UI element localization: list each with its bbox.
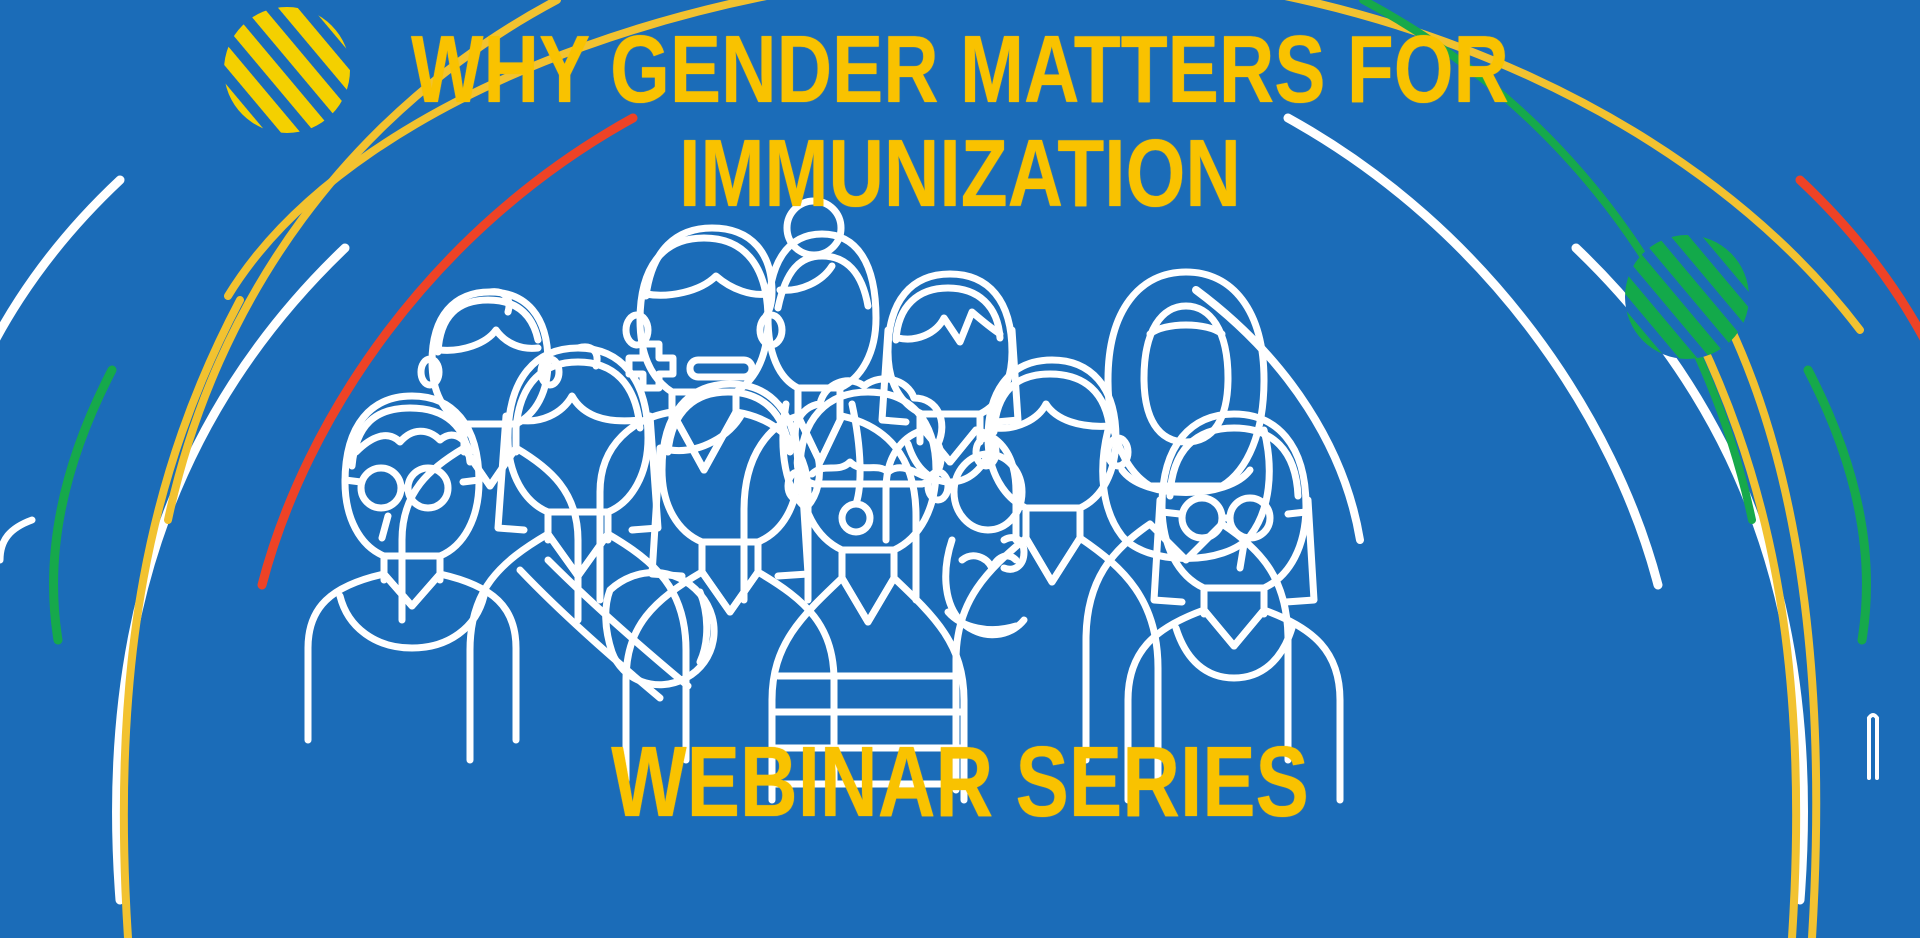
- logo-bar: World Health Organization TechNet-21: [0, 768, 1920, 938]
- figure-boy-striped-shirt: [772, 379, 964, 800]
- webinar-banner: WHY GENDER MATTERS FOR IMMUNIZATION WEBI…: [0, 0, 1920, 938]
- figure-left-edge-shoulder: [0, 520, 32, 560]
- figure-young-man: [402, 292, 578, 620]
- figure-woman-hijab: [1086, 272, 1288, 760]
- figure-older-person-glasses: [308, 396, 516, 740]
